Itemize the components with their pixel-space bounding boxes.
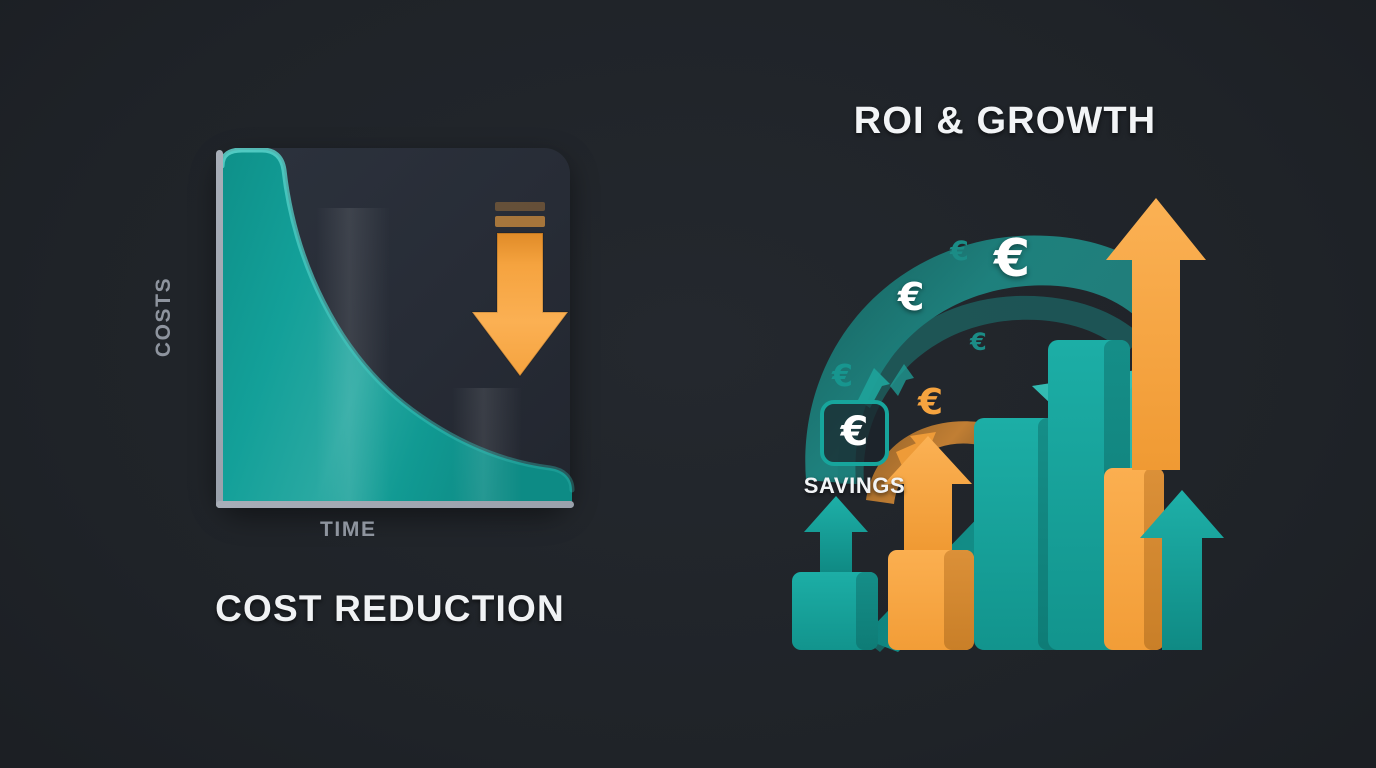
euro-icon-small-teal-c: € [832,362,853,392]
euro-icon-small-teal-b: € [970,330,987,354]
savings-label: SAVINGS [792,473,917,499]
x-axis-label: TIME [320,518,377,542]
euro-icon-large: € [994,233,1030,285]
roi-growth-title: ROI & GROWTH [770,100,1240,143]
euro-icon: € [841,412,869,452]
cost-reduction-panel: COSTS TIME COST REDUCTION [140,110,640,670]
cost-chart-y-axis [216,150,223,508]
euro-icon-small-teal-a: € [950,238,969,265]
roi-growth-illustration [770,140,1240,652]
roi-growth-panel: ROI & GROWTH [770,90,1240,670]
infographic-canvas: COSTS TIME COST REDUCTION ROI & GROWTH [0,0,1376,768]
y-axis-label: COSTS [152,277,176,357]
down-arrow-icon [468,200,572,380]
cost-reduction-caption: COST REDUCTION [140,588,640,630]
euro-icon-orange: € [918,385,943,421]
cost-chart-x-axis [216,501,574,508]
euro-icon-medium: € [898,278,924,316]
savings-euro-badge: € [820,400,889,466]
